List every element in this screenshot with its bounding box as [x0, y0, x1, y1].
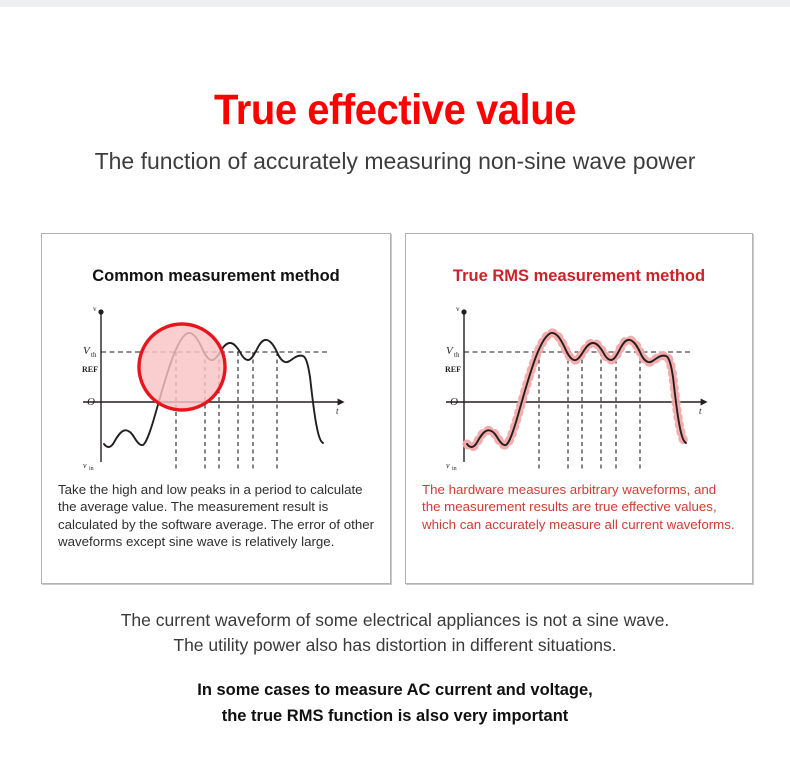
panel-header-common: Common measurement method	[42, 268, 390, 285]
input-voltage-sub-label: in	[89, 466, 94, 472]
threshold-label: V	[83, 345, 91, 357]
panel-header-true-rms: True RMS measurement method	[406, 268, 752, 285]
footer-emphasis: In some cases to measure AC current and …	[0, 678, 790, 729]
reference-label: REF	[82, 365, 98, 374]
x-axis-label: t	[336, 406, 339, 416]
waveform-svg-true-rms: v t O V th REF v in	[434, 302, 724, 474]
panel-common-measurement: Common measurement method v t O V	[41, 233, 391, 584]
footer-note-line-1: The current waveform of some electrical …	[0, 608, 790, 633]
red-highlight-circle	[139, 324, 225, 410]
footer-note-line-2: The utility power also has distortion in…	[0, 633, 790, 658]
x-axis-label: t	[699, 406, 702, 416]
top-gray-band	[0, 0, 790, 7]
threshold-label: V	[446, 345, 454, 357]
threshold-sub-label: th	[91, 351, 97, 359]
y-axis-label: v	[456, 305, 460, 313]
threshold-sub-label: th	[454, 351, 460, 359]
reference-label: REF	[445, 365, 461, 374]
infographic-page: True effective value The function of acc…	[0, 0, 790, 768]
waveform-svg-common: v t O V th REF v in	[71, 302, 361, 474]
chart-common-measurement: v t O V th REF v in	[42, 302, 390, 477]
panel-true-rms: True RMS measurement method v t O V	[405, 233, 753, 584]
origin-label: O	[450, 396, 458, 408]
input-voltage-label: v	[83, 461, 87, 470]
page-subtitle: The function of accurately measuring non…	[0, 149, 790, 174]
y-axis-cap	[461, 309, 466, 314]
panel-caption-true-rms: The hardware measures arbitrary waveform…	[422, 481, 738, 533]
y-axis-cap	[98, 309, 103, 314]
footer-emphasis-line-2: the true RMS function is also very impor…	[0, 704, 790, 730]
origin-label: O	[87, 396, 95, 408]
y-axis-label: v	[93, 305, 97, 313]
footer-emphasis-line-1: In some cases to measure AC current and …	[0, 678, 790, 704]
footer-note: The current waveform of some electrical …	[0, 608, 790, 659]
dashed-verticals	[539, 352, 640, 470]
input-voltage-sub-label: in	[452, 466, 457, 472]
pink-sample-dots	[467, 333, 686, 447]
chart-true-rms: v t O V th REF v in	[406, 302, 752, 477]
page-title: True effective value	[28, 89, 763, 132]
input-voltage-label: v	[446, 461, 450, 470]
waveform-path	[467, 333, 686, 447]
panel-caption-common: Take the high and low peaks in a period …	[58, 481, 376, 550]
